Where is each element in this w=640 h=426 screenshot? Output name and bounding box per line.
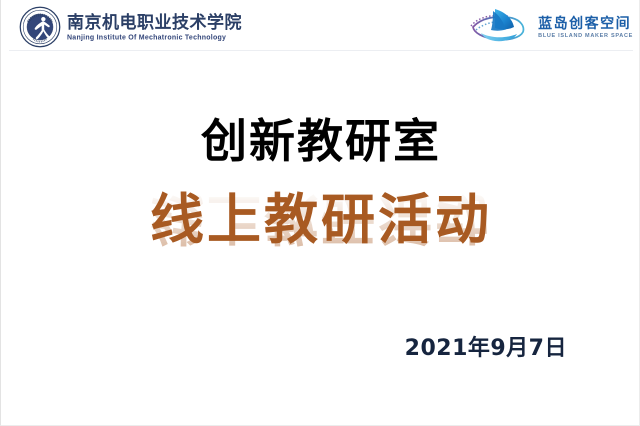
sailboat-icon bbox=[464, 5, 534, 47]
slide-subtitle-wrapper: 线上教研活动 线上教研活动 bbox=[1, 188, 640, 308]
maker-space-name-en: BLUE ISLAND MAKER SPACE bbox=[538, 32, 633, 40]
slide-title-block: 创新教研室 线上教研活动 线上教研活动 bbox=[1, 112, 640, 308]
maker-space-logo: 蓝岛创客空间 BLUE ISLAND MAKER SPACE bbox=[464, 5, 633, 47]
slide-header: 南京机电职业技术学院 Nanjing Institute Of Mechatro… bbox=[1, 0, 640, 52]
header-divider bbox=[9, 50, 633, 51]
university-logo-text: 南京机电职业技术学院 Nanjing Institute Of Mechatro… bbox=[67, 12, 242, 43]
presentation-slide: 南京机电职业技术学院 Nanjing Institute Of Mechatro… bbox=[0, 0, 640, 426]
slide-subtitle: 线上教研活动 bbox=[1, 188, 640, 252]
slide-date: 2021年9月7日 bbox=[405, 330, 567, 362]
university-name-cn: 南京机电职业技术学院 bbox=[67, 14, 242, 33]
slide-title: 创新教研室 bbox=[1, 112, 640, 170]
university-name-en: Nanjing Institute Of Mechatronic Technol… bbox=[67, 33, 242, 44]
maker-space-logo-text: 蓝岛创客空间 BLUE ISLAND MAKER SPACE bbox=[538, 13, 633, 40]
university-seal-icon bbox=[19, 6, 61, 48]
university-logo: 南京机电职业技术学院 Nanjing Institute Of Mechatro… bbox=[19, 6, 242, 48]
maker-space-name-cn: 蓝岛创客空间 bbox=[538, 16, 633, 32]
